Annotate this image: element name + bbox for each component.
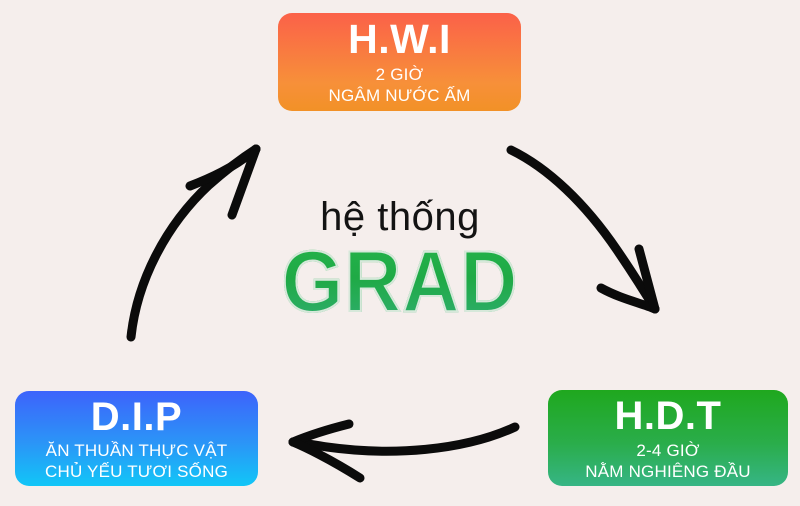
node-dip-sub2: CHỦ YẾU TƯƠI SỐNG [45, 461, 228, 482]
node-dip[interactable]: D.I.P ĂN THUẦN THỰC VẬT CHỦ YẾU TƯƠI SỐN… [15, 391, 258, 486]
arrow-hdt-to-dip [293, 424, 515, 478]
diagram-canvas: H.W.I 2 GIỜ NGÂM NƯỚC ẤM H.D.T 2-4 GIỜ N… [0, 0, 800, 506]
node-hdt-title: H.D.T [615, 396, 722, 437]
node-hdt[interactable]: H.D.T 2-4 GIỜ NẰM NGHIÊNG ĐẦU [548, 390, 788, 486]
node-hwi[interactable]: H.W.I 2 GIỜ NGÂM NƯỚC ẤM [278, 13, 521, 111]
arrow-hwi-to-hdt [511, 150, 655, 309]
node-hdt-sub2: NẰM NGHIÊNG ĐẦU [585, 461, 750, 482]
arrow-dip-to-hwi [131, 149, 256, 337]
node-dip-title: D.I.P [91, 397, 182, 438]
node-dip-sub1: ĂN THUẦN THỰC VẬT [46, 440, 228, 461]
node-hdt-sub1: 2-4 GIỜ [636, 440, 699, 461]
node-hwi-sub1: 2 GIỜ [376, 64, 424, 85]
node-hwi-title: H.W.I [348, 19, 451, 61]
node-hwi-sub2: NGÂM NƯỚC ẤM [329, 85, 471, 106]
